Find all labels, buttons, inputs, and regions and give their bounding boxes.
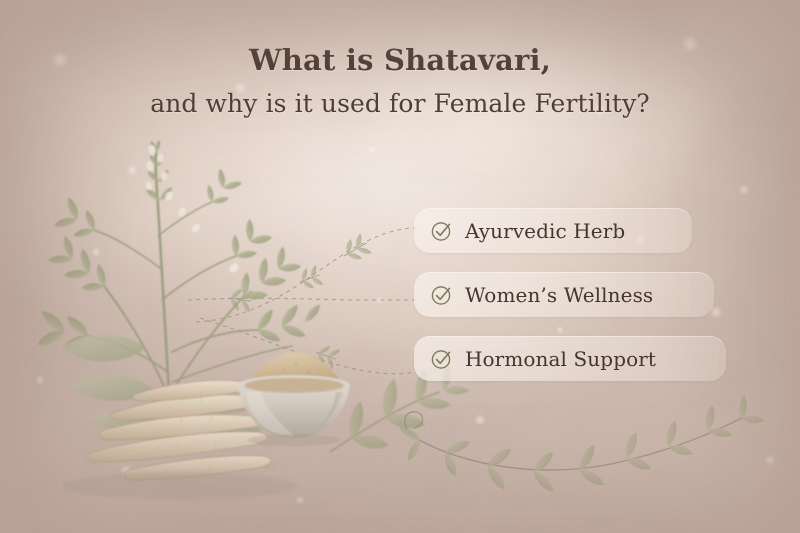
poster-canvas: What is Shatavari, and why is it used fo… bbox=[0, 0, 800, 533]
background-vignette bbox=[0, 0, 800, 533]
